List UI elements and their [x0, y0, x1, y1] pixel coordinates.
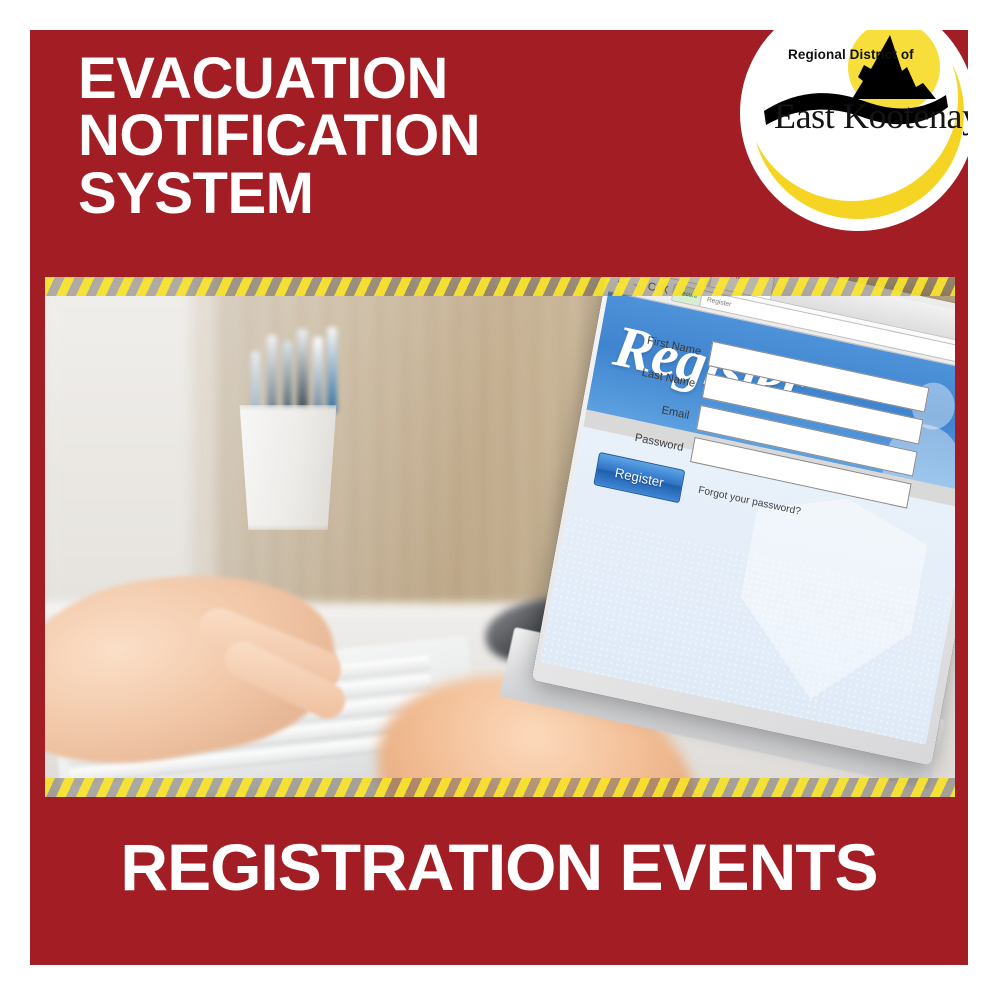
pen-icon [283, 341, 292, 413]
address-bar-text: Register [701, 295, 732, 308]
pen-icon [327, 327, 337, 413]
banner-title: REGISTRATION EVENTS [30, 829, 968, 905]
rdek-logo: Regional District of East Kootenay [740, 30, 968, 231]
laptop-screen: Sign In New Tab — ← → C X Secure Registe… [540, 277, 955, 744]
pen-icon [267, 335, 277, 413]
headline-line-3: SYSTEM [78, 165, 638, 222]
bottom-banner: REGISTRATION EVENTS [30, 797, 968, 965]
last-name-label: Last Name [608, 359, 705, 391]
pen-icon [313, 337, 323, 413]
red-panel: EVACUATION NOTIFICATION SYSTEM Regional … [30, 30, 968, 965]
email-label: Email [602, 391, 699, 423]
register-submit-button[interactable]: Register [593, 452, 685, 503]
hazard-stripe-top [45, 277, 955, 296]
page-title: EVACUATION NOTIFICATION SYSTEM [78, 50, 638, 222]
laptop: Sign In New Tab — ← → C X Secure Registe… [551, 313, 955, 783]
first-name-label: First Name [614, 327, 711, 359]
password-label: Password [596, 423, 693, 455]
logo-title: East Kootenay [774, 95, 968, 137]
forgot-password-link[interactable]: Forgot your password? [697, 485, 801, 518]
pen-icon [297, 329, 308, 413]
poster: EVACUATION NOTIFICATION SYSTEM Regional … [0, 0, 1000, 1000]
hazard-stripe-bottom [45, 778, 955, 797]
pen-icon [251, 351, 260, 413]
headline-line-2: NOTIFICATION [78, 107, 638, 164]
pen-cup-icon [233, 405, 343, 530]
logo-subtitle: Regional District of [788, 47, 914, 62]
photo-hands-typing: Sign In New Tab — ← → C X Secure Registe… [45, 277, 955, 797]
headline-line-1: EVACUATION [78, 50, 638, 107]
